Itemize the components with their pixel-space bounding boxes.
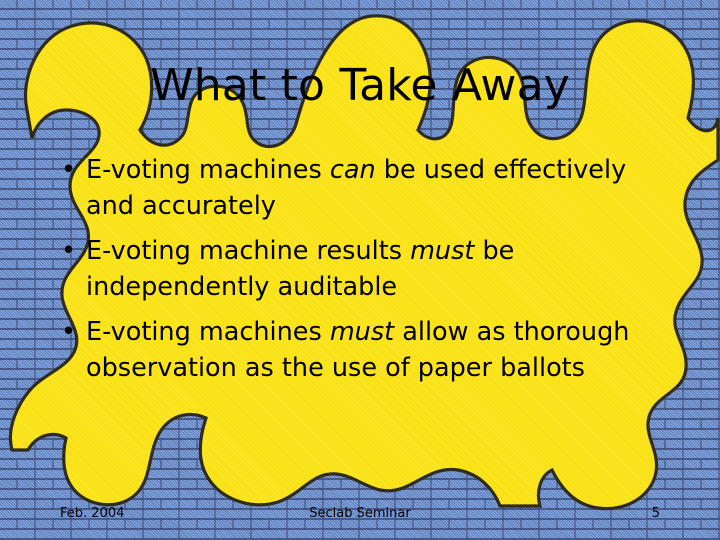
presentation-slide: What to Take Away • E-voting machines ca… <box>0 0 720 540</box>
bullet-point-icon: • <box>61 152 76 188</box>
slide-content: What to Take Away • E-voting machines ca… <box>0 0 720 540</box>
bullet-text-pre: E-voting machines <box>86 317 330 347</box>
slide-title: What to Take Away <box>0 63 720 109</box>
bullet-text-pre: E-voting machine results <box>86 236 410 266</box>
list-item: • E-voting machine results must be indep… <box>52 233 672 305</box>
bullet-text-pre: E-voting machines <box>86 155 330 185</box>
slide-footer: Feb. 2004 Seclab Seminar 5 <box>0 500 720 540</box>
footer-event-name: Seclab Seminar <box>0 506 720 521</box>
bullet-text-emphasis: can <box>330 155 376 185</box>
bullet-text-emphasis: must <box>330 317 394 347</box>
footer-page-number: 5 <box>652 506 660 521</box>
bullet-text-emphasis: must <box>410 236 474 266</box>
list-item: • E-voting machines can be used effectiv… <box>52 152 672 224</box>
bullet-point-icon: • <box>61 314 76 350</box>
bullet-list: • E-voting machines can be used effectiv… <box>52 152 672 395</box>
list-item: • E-voting machines must allow as thorou… <box>52 314 672 386</box>
bullet-point-icon: • <box>61 233 76 269</box>
